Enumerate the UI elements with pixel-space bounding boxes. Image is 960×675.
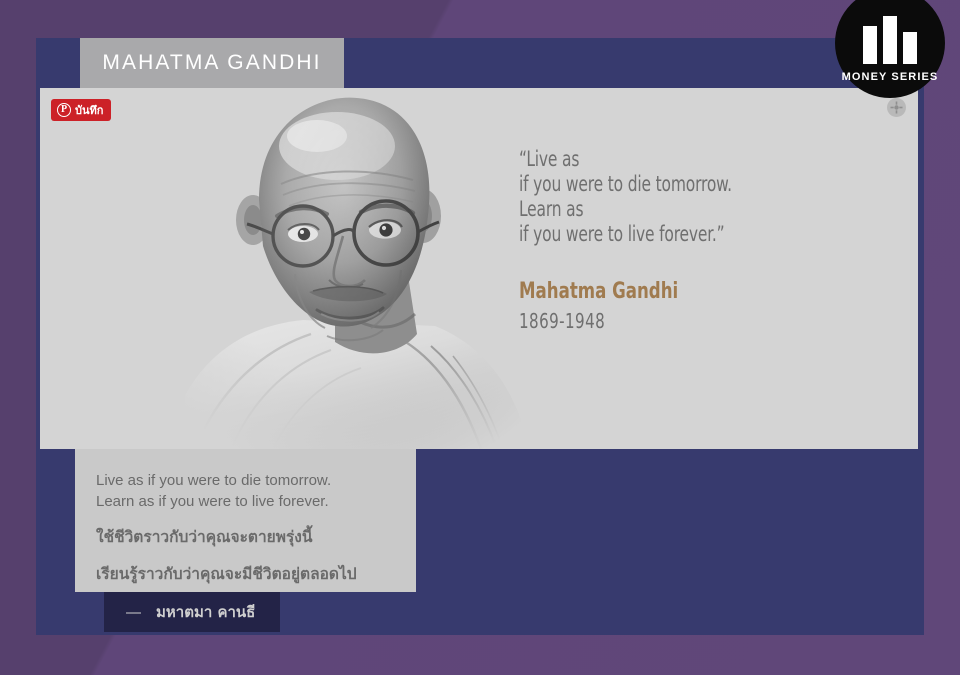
attribution-name: มหาตมา คานธี [156, 600, 255, 624]
quote-line: Learn as [519, 197, 798, 222]
attribution-bar: — มหาตมา คานธี [104, 592, 280, 632]
bar-chart-logo-icon [863, 16, 917, 64]
caption-thai-line: ใช้ชีวิตราวกับว่าคุณจะตายพรุ่งนี้ [96, 526, 416, 549]
pinterest-icon: P [57, 103, 71, 117]
expand-icon[interactable] [887, 98, 906, 117]
caption-box: Live as if you were to die tomorrow. Lea… [75, 449, 416, 592]
quote-line: if you were to live forever.” [519, 222, 798, 247]
pinterest-save-button[interactable]: P บันทึก [51, 99, 111, 121]
quote-line: if you were to die tomorrow. [519, 172, 798, 197]
caption-english-line: Learn as if you were to live forever. [96, 491, 416, 512]
pinterest-save-label: บันทึก [75, 101, 103, 119]
page-title-bar: MAHATMA GANDHI [80, 38, 344, 88]
caption-english-line: Live as if you were to die tomorrow. [96, 470, 416, 491]
gandhi-portrait [185, 88, 545, 449]
quote-line: “Live as [519, 147, 798, 172]
caption-thai-line: เรียนรู้ราวกับว่าคุณจะมีชีวิตอยู่ตลอดไป [96, 563, 416, 586]
page-title: MAHATMA GANDHI [102, 51, 321, 75]
badge-label: MONEY SERIES [842, 71, 939, 83]
quote-author-years: 1869-1948 [519, 310, 805, 333]
quote-author: Mahatma Gandhi [519, 279, 805, 305]
slide-panel: MAHATMA GANDHI P บันทึก [36, 38, 924, 635]
quote-block: “Live as if you were to die tomorrow. Le… [519, 147, 859, 333]
attribution-dash: — [126, 604, 141, 621]
quote-image-card: P บันทึก [40, 88, 918, 449]
